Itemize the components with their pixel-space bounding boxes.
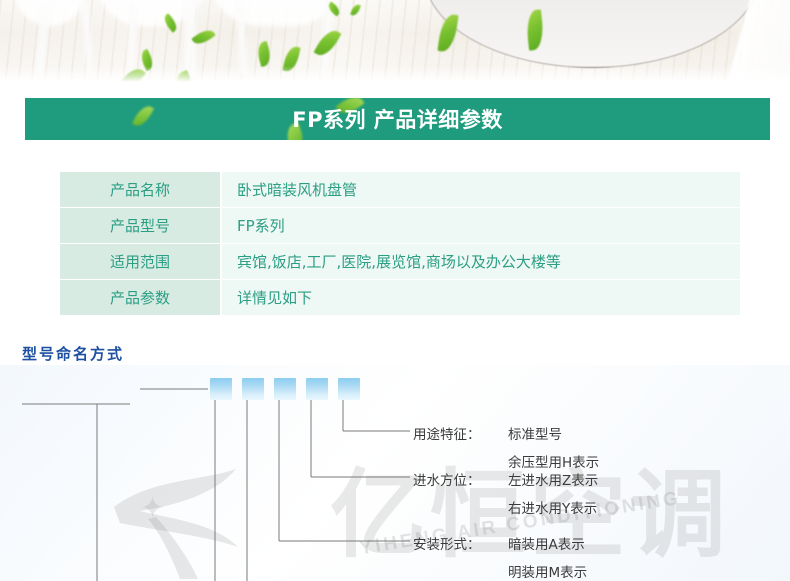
model-code-box — [274, 378, 296, 400]
table-row: 适用范围 宾馆,饭店,工厂,医院,展览馆,商场以及办公大楼等 — [60, 244, 740, 279]
spec-label: 产品型号 — [60, 208, 220, 243]
model-code-box — [338, 378, 360, 400]
hero-bottom-fade — [0, 66, 790, 82]
spec-label: 产品名称 — [60, 172, 220, 207]
legend-value: 标准型号 — [508, 423, 562, 443]
leaf-icon — [132, 103, 154, 130]
diagram-connectors — [0, 365, 790, 581]
spec-value: 卧式暗装风机盘管 — [222, 172, 740, 207]
page-title: FP系列 产品详细参数 — [292, 104, 503, 134]
model-code-box — [242, 378, 264, 400]
spec-value: FP系列 — [222, 208, 740, 243]
spec-value: 宾馆,饭店,工厂,医院,展览馆,商场以及办公大楼等 — [222, 244, 740, 279]
legend-key: 用途特征： — [413, 423, 508, 443]
spec-value: 详情见如下 — [222, 280, 740, 315]
legend-group-install-type: 安装形式： 暗装用A表示 明装用M表示 — [413, 533, 587, 581]
legend-value: 暗装用A表示 — [508, 533, 585, 553]
legend-key: 安装形式： — [413, 533, 508, 553]
legend-row: 安装形式： 暗装用A表示 — [413, 533, 587, 553]
legend-value: 左进水用Z表示 — [508, 469, 598, 489]
legend-value: 右进水用Y表示 — [508, 497, 598, 517]
spec-table: 产品名称 卧式暗装风机盘管 产品型号 FP系列 适用范围 宾馆,饭店,工厂,医院… — [60, 172, 740, 316]
table-row: 产品名称 卧式暗装风机盘管 — [60, 172, 740, 207]
legend-group-water-inlet: 进水方位： 左进水用Z表示 右进水用Y表示 — [413, 469, 598, 517]
legend-value: 明装用M表示 — [508, 561, 587, 581]
naming-heading: 型号命名方式 — [22, 343, 124, 364]
spec-label: 产品参数 — [60, 280, 220, 315]
table-row: 产品型号 FP系列 — [60, 208, 740, 243]
model-naming-diagram: ✦ 亿恒空调 YIHENG AIR CONDITIONING — [0, 365, 790, 581]
table-row: 产品参数 详情见如下 — [60, 280, 740, 315]
model-code-box — [306, 378, 328, 400]
model-code-box — [210, 378, 232, 400]
section-banner: FP系列 产品详细参数 — [25, 98, 770, 140]
legend-row: 用途特征： 标准型号 — [413, 423, 599, 443]
legend-group-purpose: 用途特征： 标准型号 余压型用H表示 — [413, 423, 599, 471]
legend-key: 进水方位： — [413, 469, 508, 489]
legend-value: 余压型用H表示 — [508, 451, 599, 471]
spec-label: 适用范围 — [60, 244, 220, 279]
legend-row: 进水方位： 左进水用Z表示 — [413, 469, 598, 489]
hero-photo — [0, 0, 790, 82]
product-detail-page: FP系列 产品详细参数 产品名称 卧式暗装风机盘管 产品型号 FP系列 适用范围… — [0, 0, 790, 581]
